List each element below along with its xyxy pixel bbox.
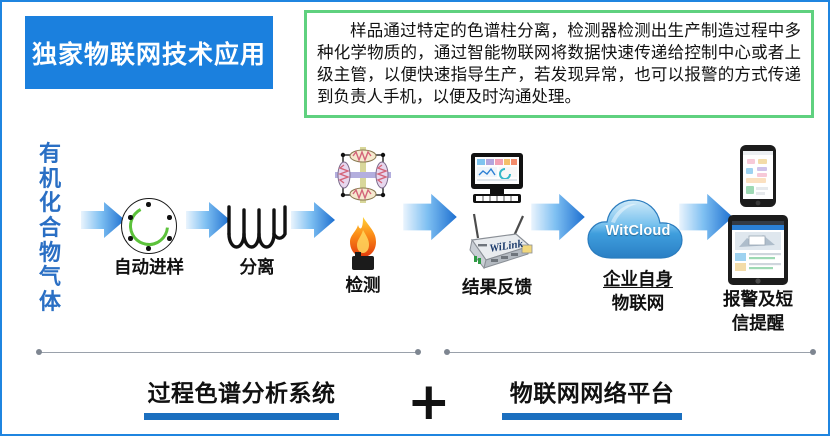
- flow-step-separation-label: 分离: [214, 258, 300, 278]
- flow-step-alarm[interactable]: 报警及短 信提醒: [702, 140, 814, 333]
- title-banner: 独家物联网技术应用: [25, 16, 273, 89]
- plus-joiner: +: [407, 376, 451, 428]
- flow-step-detection[interactable]: 检测: [320, 142, 406, 296]
- section-right-label: 物联网网络平台: [502, 374, 682, 408]
- flow-step-feedback-label: 结果反馈: [442, 278, 552, 298]
- flow-step-detection-label: 检测: [320, 276, 406, 296]
- description-box: 样品通过特定的色谱柱分离，检测器检测出生产制造过程中多种化学物质的，通过智能物联…: [304, 10, 814, 118]
- cloud-brand-label: WitCloud: [584, 223, 692, 239]
- flow-step-cloud-label-line1: 企业自身: [572, 270, 704, 290]
- bracket-left: [36, 349, 421, 356]
- bracket-right: [444, 349, 816, 356]
- flow-step-cloud-label-line2: 物联网: [572, 294, 704, 314]
- witcloud-icon: WitCloud: [572, 188, 704, 266]
- tablet-icon: [702, 210, 814, 286]
- flow-step-sampling-label: 自动进样: [106, 258, 192, 278]
- wilink-router-icon: WiLink: [442, 208, 552, 274]
- section-left-label: 过程色谱分析系统: [144, 374, 339, 408]
- flow-step-sampling[interactable]: 自动进样: [106, 192, 192, 278]
- section-right-underline: [502, 413, 682, 420]
- input-gas-label: 有机化合物气体: [35, 142, 65, 314]
- flow-step-separation[interactable]: 分离: [214, 192, 300, 278]
- section-right: 物联网网络平台: [502, 374, 682, 420]
- section-left-underline: [144, 413, 339, 420]
- smartphone-icon: [702, 140, 814, 208]
- flow-step-cloud[interactable]: WitCloud 企业自身 物联网: [572, 188, 704, 313]
- flow-step-alarm-label-line2: 信提醒: [702, 314, 814, 334]
- sampling-valve-icon: [106, 192, 192, 254]
- description-text: 样品通过特定的色谱柱分离，检测器检测出生产制造过程中多种化学物质的，通过智能物联…: [317, 20, 801, 108]
- flame-detector-icon: [320, 210, 406, 272]
- computer-monitor-icon: [442, 144, 552, 206]
- flow-step-feedback[interactable]: WiLink 结果反馈: [442, 144, 552, 298]
- diagram-root: 独家物联网技术应用 样品通过特定的色谱柱分离，检测器检测出生产制造过程中多种化学…: [0, 0, 830, 436]
- chromatography-column-icon: [214, 192, 300, 254]
- flow-step-alarm-label-line1: 报警及短: [702, 290, 814, 310]
- page-title: 独家物联网技术应用: [32, 35, 266, 71]
- detector-bridge-icon: [320, 142, 406, 206]
- section-left: 过程色谱分析系统: [144, 374, 339, 420]
